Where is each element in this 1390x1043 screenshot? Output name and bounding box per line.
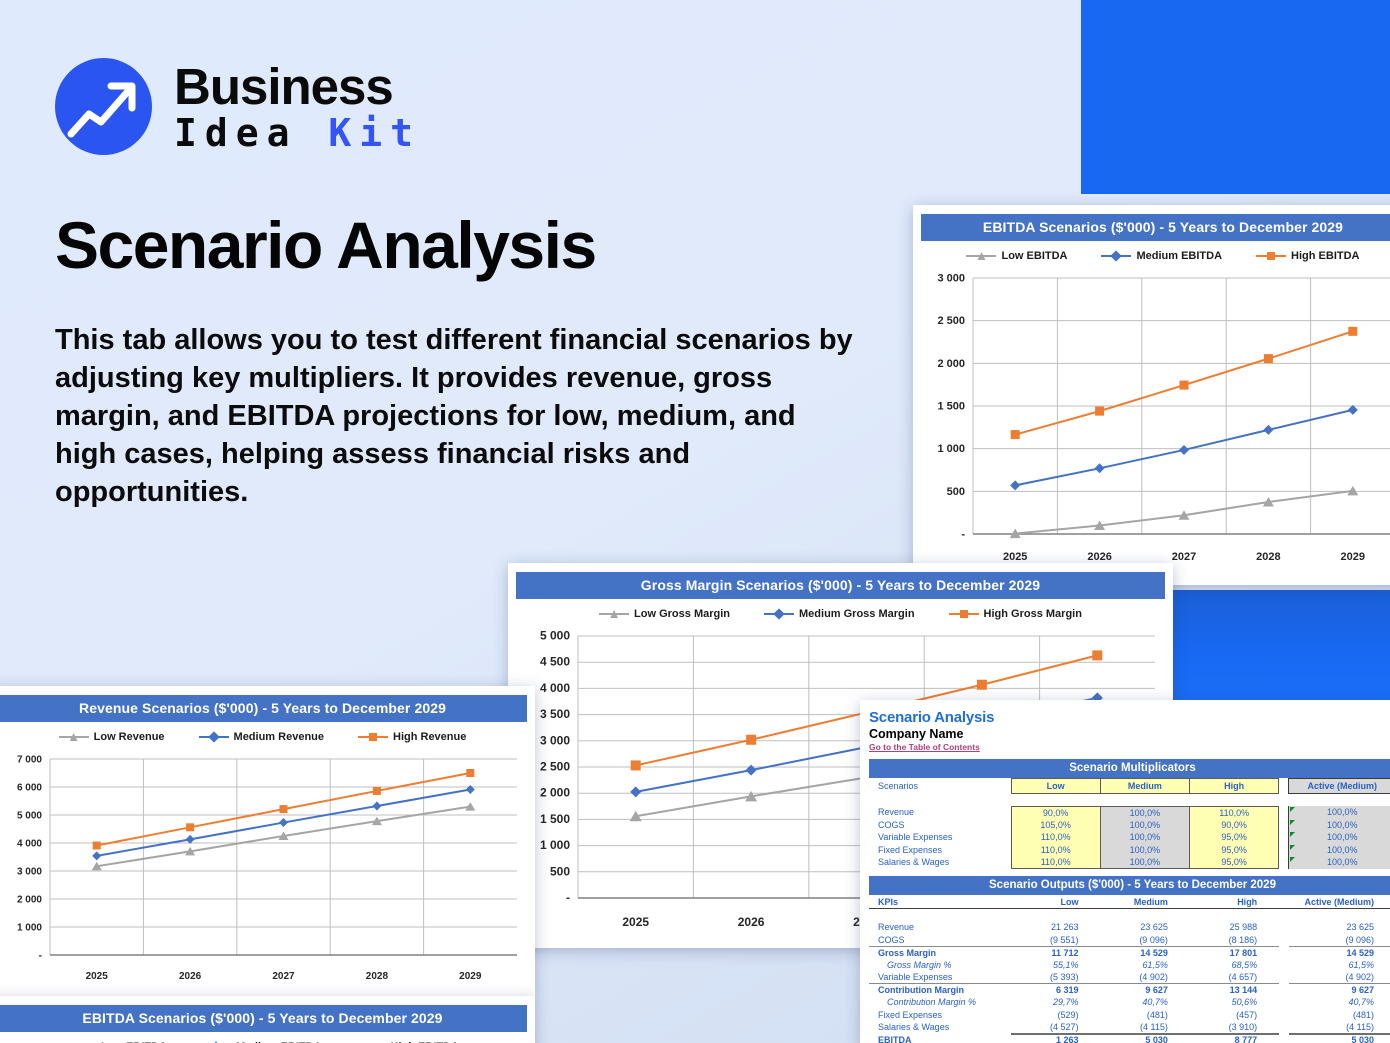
legend-item-low: Low Revenue bbox=[59, 731, 165, 743]
row-label-contribution-margin: Contribution Margin bbox=[869, 984, 1011, 997]
legend-item-high: High EBITDA bbox=[1256, 250, 1359, 262]
gap-row bbox=[869, 909, 1390, 922]
cell-medium: 61,5% bbox=[1101, 959, 1190, 972]
row-label-gross-margin: Gross Margin bbox=[869, 946, 1011, 959]
cell-medium: (4 902) bbox=[1101, 971, 1190, 984]
cell-spacer bbox=[1279, 934, 1289, 947]
cell-active: 40,7% bbox=[1289, 996, 1390, 1009]
decorative-blue-block-middle bbox=[1170, 590, 1390, 701]
svg-text:5 000: 5 000 bbox=[540, 630, 570, 643]
row-label-gross-margin-pct: Gross Margin % bbox=[869, 959, 1011, 972]
cell-active: 100,0% bbox=[1289, 819, 1390, 832]
cell-medium: 14 529 bbox=[1101, 946, 1190, 959]
scenario-analysis-sheet: Scenario Analysis Company Name Go to the… bbox=[860, 700, 1390, 1043]
column-header-medium: Medium bbox=[1100, 779, 1189, 794]
row-label-variable-expenses: Variable Expenses bbox=[869, 971, 1011, 984]
cell-low[interactable]: 90,0% bbox=[1011, 806, 1100, 819]
outputs-header-row: KPIs Low Medium High Active (Medium) bbox=[869, 896, 1390, 909]
table-row: Revenue 90,0% 100,0% 110,0% 100,0% bbox=[869, 806, 1390, 819]
table-row: Gross Margin % 55,1% 61,5% 68,5% 61,5% bbox=[869, 959, 1390, 972]
table-row: EBITDA 1 263 5 030 8 777 5 030 bbox=[869, 1034, 1390, 1043]
svg-text:2 000: 2 000 bbox=[937, 358, 965, 370]
scenario-multipliers-table: Scenarios Low Medium High Active (Medium… bbox=[869, 778, 1390, 869]
svg-text:6 000: 6 000 bbox=[17, 783, 42, 794]
svg-text:1 000: 1 000 bbox=[17, 923, 42, 934]
table-row: Salaries & Wages 110,0% 100,0% 95,0% 100… bbox=[869, 856, 1390, 869]
cell-high: (8 186) bbox=[1190, 934, 1279, 947]
legend-marker-low-icon bbox=[59, 732, 89, 742]
chart-title-revenue: Revenue Scenarios ($'000) - 5 Years to D… bbox=[0, 695, 527, 722]
cell-high: 68,5% bbox=[1190, 959, 1279, 972]
outputs-column-medium: Medium bbox=[1101, 896, 1190, 909]
chart-plot-revenue: -1 0002 0003 0004 0005 0006 0007 0002025… bbox=[0, 753, 527, 993]
svg-text:1 000: 1 000 bbox=[937, 443, 965, 455]
cell-low[interactable]: 110,0% bbox=[1011, 856, 1100, 869]
chart-legend-ebitda-top: Low EBITDA Medium EBITDA High EBITDA bbox=[921, 250, 1390, 262]
cell-high[interactable]: 95,0% bbox=[1190, 844, 1279, 857]
page-description: This tab allows you to test different fi… bbox=[55, 322, 855, 512]
cell-spacer bbox=[1279, 984, 1289, 997]
table-row: Variable Expenses 110,0% 100,0% 95,0% 10… bbox=[869, 831, 1390, 844]
legend-marker-low-icon bbox=[599, 609, 629, 619]
cell-high[interactable]: 110,0% bbox=[1190, 806, 1279, 819]
cell-active: 23 625 bbox=[1289, 921, 1390, 934]
svg-text:2 500: 2 500 bbox=[937, 315, 965, 327]
svg-text:4 500: 4 500 bbox=[540, 655, 570, 669]
cell-high: 25 988 bbox=[1190, 921, 1279, 934]
scenario-outputs-table: KPIs Low Medium High Active (Medium) Rev… bbox=[869, 896, 1390, 1043]
brand-kit-text: Kit bbox=[328, 111, 421, 155]
row-label-fixed-expenses: Fixed Expenses bbox=[869, 844, 1011, 857]
svg-text:2028: 2028 bbox=[1256, 551, 1280, 563]
cell-spacer bbox=[1279, 946, 1289, 959]
table-row: Variable Expenses (5 393) (4 902) (4 657… bbox=[869, 971, 1390, 984]
legend-item-medium: Medium Gross Margin bbox=[764, 608, 915, 620]
outputs-column-spacer bbox=[1279, 896, 1289, 909]
multipliers-row-label: Scenarios bbox=[869, 779, 1011, 794]
legend-item-low: Low Gross Margin bbox=[599, 608, 730, 620]
svg-text:2027: 2027 bbox=[272, 971, 295, 982]
cell-high[interactable]: 90,0% bbox=[1190, 819, 1279, 832]
cell-low: (529) bbox=[1011, 1009, 1100, 1022]
svg-text:-: - bbox=[39, 951, 42, 962]
cell-medium: 9 627 bbox=[1101, 984, 1190, 997]
svg-text:2026: 2026 bbox=[1087, 551, 1111, 563]
legend-label-high: High EBITDA bbox=[1291, 250, 1359, 262]
cell-medium: (4 115) bbox=[1101, 1021, 1190, 1034]
cell-high: (4 657) bbox=[1190, 971, 1279, 984]
legend-marker-high-icon bbox=[1256, 251, 1286, 261]
row-label-variable-expenses: Variable Expenses bbox=[869, 831, 1011, 844]
table-row: Salaries & Wages (4 527) (4 115) (3 910)… bbox=[869, 1021, 1390, 1034]
cell-low: (5 393) bbox=[1011, 971, 1100, 984]
legend-label-high: High Revenue bbox=[393, 731, 466, 743]
cell-active: 14 529 bbox=[1289, 946, 1390, 959]
cell-active: 5 030 bbox=[1289, 1034, 1390, 1043]
table-row: Fixed Expenses 110,0% 100,0% 95,0% 100,0… bbox=[869, 844, 1390, 857]
column-spacer bbox=[1279, 779, 1289, 794]
cell-medium: 23 625 bbox=[1101, 921, 1190, 934]
cell-high: (3 910) bbox=[1190, 1021, 1279, 1034]
cell-low: (4 527) bbox=[1011, 1021, 1100, 1034]
cell-spacer bbox=[1279, 806, 1289, 819]
svg-text:-: - bbox=[566, 891, 570, 905]
svg-text:2025: 2025 bbox=[622, 915, 649, 929]
svg-text:3 000: 3 000 bbox=[540, 733, 570, 747]
brand-name-primary: Business bbox=[174, 61, 421, 112]
table-of-contents-link[interactable]: Go to the Table of Contents bbox=[869, 742, 980, 752]
cell-medium[interactable]: 100,0% bbox=[1100, 819, 1189, 832]
cell-spacer bbox=[1279, 831, 1289, 844]
chart-card-revenue: Revenue Scenarios ($'000) - 5 Years to D… bbox=[0, 686, 535, 996]
row-label-fixed-expenses: Fixed Expenses bbox=[869, 1009, 1011, 1022]
chart-plot-ebitda-top: -5001 0001 5002 0002 5003 00020252026202… bbox=[921, 272, 1390, 572]
svg-text:-: - bbox=[961, 529, 965, 541]
svg-text:7 000: 7 000 bbox=[17, 755, 42, 766]
legend-marker-high-icon bbox=[949, 609, 979, 619]
column-header-high: High bbox=[1190, 779, 1279, 794]
cell-high[interactable]: 95,0% bbox=[1190, 831, 1279, 844]
row-label-cogs: COGS bbox=[869, 934, 1011, 947]
cell-high: 17 801 bbox=[1190, 946, 1279, 959]
cell-spacer bbox=[1279, 971, 1289, 984]
cell-low: 1 263 bbox=[1011, 1034, 1100, 1043]
legend-item-high: High Revenue bbox=[358, 731, 466, 743]
svg-text:1 000: 1 000 bbox=[540, 838, 570, 852]
svg-text:1 500: 1 500 bbox=[937, 401, 965, 413]
table-row: COGS 105,0% 100,0% 90,0% 100,0% bbox=[869, 819, 1390, 832]
legend-label-medium: Medium Gross Margin bbox=[799, 608, 915, 620]
cell-active: 61,5% bbox=[1289, 959, 1390, 972]
legend-label-high: High Gross Margin bbox=[984, 608, 1082, 620]
cell-spacer bbox=[1279, 1021, 1289, 1034]
svg-text:4 000: 4 000 bbox=[17, 839, 42, 850]
cell-spacer bbox=[1279, 856, 1289, 869]
sheet-company-name: Company Name bbox=[869, 727, 1390, 741]
cell-high: 8 777 bbox=[1190, 1034, 1279, 1043]
legend-label-medium: Medium EBITDA bbox=[1136, 250, 1222, 262]
table-row: Gross Margin 11 712 14 529 17 801 14 529 bbox=[869, 946, 1390, 959]
cell-spacer bbox=[1279, 819, 1289, 832]
svg-text:1 500: 1 500 bbox=[540, 812, 570, 826]
row-label-cogs: COGS bbox=[869, 819, 1011, 832]
cell-low[interactable]: 110,0% bbox=[1011, 831, 1100, 844]
cell-spacer bbox=[1279, 959, 1289, 972]
cell-active: (4 902) bbox=[1289, 971, 1390, 984]
svg-text:2 000: 2 000 bbox=[17, 895, 42, 906]
legend-item-medium: Medium Revenue bbox=[199, 731, 324, 743]
legend-marker-medium-icon bbox=[764, 609, 794, 619]
svg-text:2026: 2026 bbox=[179, 971, 202, 982]
cell-active: (4 115) bbox=[1289, 1021, 1390, 1034]
row-label-salaries-wages: Salaries & Wages bbox=[869, 1021, 1011, 1034]
svg-text:2026: 2026 bbox=[738, 915, 765, 929]
column-header-low: Low bbox=[1011, 779, 1100, 794]
multipliers-header-row: Scenarios Low Medium High Active (Medium… bbox=[869, 779, 1390, 794]
row-label-contribution-margin-pct: Contribution Margin % bbox=[869, 996, 1011, 1009]
cell-medium: 40,7% bbox=[1101, 996, 1190, 1009]
legend-marker-low-icon bbox=[966, 251, 996, 261]
cell-low: (9 551) bbox=[1011, 934, 1100, 947]
svg-text:2 500: 2 500 bbox=[540, 760, 570, 774]
cell-medium[interactable]: 100,0% bbox=[1100, 806, 1189, 819]
chart-legend-revenue: Low Revenue Medium Revenue High Revenue bbox=[0, 731, 527, 743]
cell-spacer bbox=[1279, 1034, 1289, 1043]
column-header-active: Active (Medium) bbox=[1289, 779, 1390, 794]
outputs-column-low: Low bbox=[1011, 896, 1100, 909]
outputs-band-title: Scenario Outputs ($'000) - 5 Years to De… bbox=[869, 876, 1390, 895]
decorative-blue-block-top bbox=[1081, 0, 1390, 194]
brand-idea-text: Idea bbox=[174, 111, 328, 155]
legend-item-high: High Gross Margin bbox=[949, 608, 1082, 620]
cell-medium[interactable]: 100,0% bbox=[1100, 831, 1189, 844]
cell-active: 100,0% bbox=[1289, 831, 1390, 844]
cell-medium[interactable]: 100,0% bbox=[1100, 844, 1189, 857]
table-row: Revenue 21 263 23 625 25 988 23 625 bbox=[869, 921, 1390, 934]
legend-marker-medium-icon bbox=[199, 732, 229, 742]
cell-low: 6 319 bbox=[1011, 984, 1100, 997]
svg-text:3 500: 3 500 bbox=[540, 707, 570, 721]
outputs-column-high: High bbox=[1190, 896, 1279, 909]
sheet-heading: Scenario Analysis bbox=[869, 709, 1390, 726]
chart-card-ebitda-top: EBITDA Scenarios ($'000) - 5 Years to De… bbox=[913, 205, 1390, 585]
cell-low: 29,7% bbox=[1011, 996, 1100, 1009]
cell-low: 55,1% bbox=[1011, 959, 1100, 972]
cell-medium: (481) bbox=[1101, 1009, 1190, 1022]
cell-low: 21 263 bbox=[1011, 921, 1100, 934]
brand-logo: Business Idea Kit bbox=[55, 58, 421, 155]
legend-marker-medium-icon bbox=[1101, 251, 1131, 261]
cell-medium: (9 096) bbox=[1101, 934, 1190, 947]
cell-high: (457) bbox=[1190, 1009, 1279, 1022]
legend-label-low: Low Gross Margin bbox=[634, 608, 730, 620]
legend-label-medium: Medium Revenue bbox=[234, 731, 324, 743]
svg-text:5 000: 5 000 bbox=[17, 811, 42, 822]
legend-marker-high-icon bbox=[358, 732, 388, 742]
cell-low: 11 712 bbox=[1011, 946, 1100, 959]
row-label-revenue: Revenue bbox=[869, 806, 1011, 819]
table-row: Contribution Margin 6 319 9 627 13 144 9… bbox=[869, 984, 1390, 997]
table-row: Fixed Expenses (529) (481) (457) (481) bbox=[869, 1009, 1390, 1022]
cell-medium[interactable]: 100,0% bbox=[1100, 856, 1189, 869]
row-label-revenue: Revenue bbox=[869, 921, 1011, 934]
svg-text:3 000: 3 000 bbox=[17, 867, 42, 878]
row-label-ebitda: EBITDA bbox=[869, 1034, 1011, 1043]
legend-item-low: Low EBITDA bbox=[966, 250, 1067, 262]
svg-text:2029: 2029 bbox=[459, 971, 482, 982]
chart-title-ebitda-bottom: EBITDA Scenarios ($'000) - 5 Years to De… bbox=[0, 1005, 527, 1032]
cell-low[interactable]: 105,0% bbox=[1011, 819, 1100, 832]
legend-label-low: Low EBITDA bbox=[1001, 250, 1067, 262]
cell-low[interactable]: 110,0% bbox=[1011, 844, 1100, 857]
svg-text:3 000: 3 000 bbox=[937, 273, 965, 285]
brand-name-secondary: Idea Kit bbox=[174, 114, 421, 152]
legend-item-medium: Medium EBITDA bbox=[1101, 250, 1222, 262]
row-label-salaries-wages: Salaries & Wages bbox=[869, 856, 1011, 869]
svg-text:2027: 2027 bbox=[1172, 551, 1196, 563]
growth-arrow-icon bbox=[55, 58, 152, 155]
cell-active: (9 096) bbox=[1289, 934, 1390, 947]
cell-active: 100,0% bbox=[1289, 844, 1390, 857]
cell-active: (481) bbox=[1289, 1009, 1390, 1022]
cell-active: 100,0% bbox=[1289, 856, 1390, 869]
table-row: Contribution Margin % 29,7% 40,7% 50,6% … bbox=[869, 996, 1390, 1009]
cell-spacer bbox=[1279, 996, 1289, 1009]
chart-title-ebitda-top: EBITDA Scenarios ($'000) - 5 Years to De… bbox=[921, 214, 1390, 241]
svg-text:500: 500 bbox=[947, 486, 965, 498]
cell-spacer bbox=[1279, 921, 1289, 934]
cell-high[interactable]: 95,0% bbox=[1190, 856, 1279, 869]
chart-title-gross-margin: Gross Margin Scenarios ($'000) - 5 Years… bbox=[516, 572, 1165, 599]
svg-text:2025: 2025 bbox=[1003, 551, 1027, 563]
page-title: Scenario Analysis bbox=[55, 207, 596, 283]
cell-active: 100,0% bbox=[1289, 806, 1390, 819]
svg-text:4 000: 4 000 bbox=[540, 681, 570, 695]
cell-spacer bbox=[1279, 844, 1289, 857]
outputs-column-kpis: KPIs bbox=[869, 896, 1011, 909]
cell-high: 50,6% bbox=[1190, 996, 1279, 1009]
svg-text:2025: 2025 bbox=[86, 971, 109, 982]
chart-card-ebitda-bottom: EBITDA Scenarios ($'000) - 5 Years to De… bbox=[0, 996, 535, 1043]
cell-high: 13 144 bbox=[1190, 984, 1279, 997]
svg-text:2029: 2029 bbox=[1341, 551, 1365, 563]
legend-label-low: Low Revenue bbox=[94, 731, 165, 743]
svg-text:2 000: 2 000 bbox=[540, 786, 570, 800]
cell-active: 9 627 bbox=[1289, 984, 1390, 997]
multipliers-band-title: Scenario Multiplicators bbox=[869, 759, 1390, 778]
table-row: COGS (9 551) (9 096) (8 186) (9 096) bbox=[869, 934, 1390, 947]
svg-text:500: 500 bbox=[550, 864, 570, 878]
chart-legend-gross-margin: Low Gross Margin Medium Gross Margin Hig… bbox=[516, 608, 1165, 620]
outputs-column-active: Active (Medium) bbox=[1289, 896, 1390, 909]
gap-row bbox=[869, 794, 1390, 807]
cell-spacer bbox=[1279, 1009, 1289, 1022]
svg-text:2028: 2028 bbox=[366, 971, 389, 982]
cell-medium: 5 030 bbox=[1101, 1034, 1190, 1043]
